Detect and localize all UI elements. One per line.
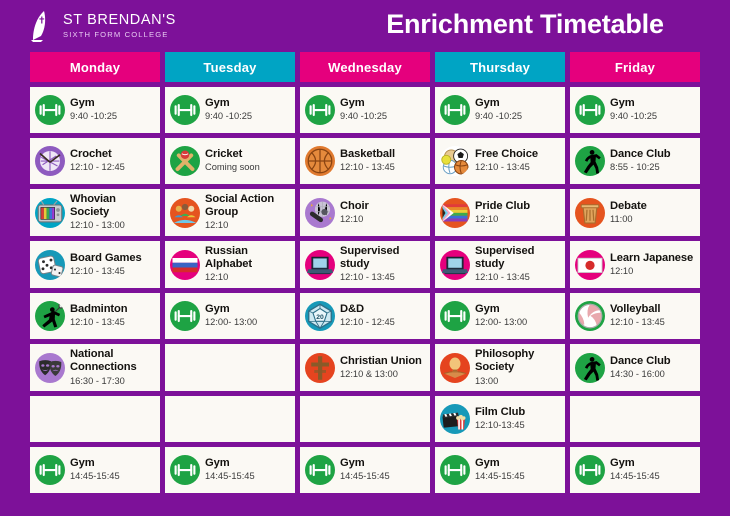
timetable-cell[interactable]: Debate11:00 (570, 189, 700, 236)
activity-text: Whovian Society12:10 - 13:00 (70, 193, 155, 232)
timetable-cell[interactable]: Gym12:00- 13:00 (435, 293, 565, 339)
activity-title: Gym (205, 97, 252, 110)
timetable-cell[interactable]: Supervised study12:10 - 13:45 (435, 241, 565, 288)
timetable-cell[interactable]: Crochet12:10 - 12:45 (30, 138, 160, 184)
day-header-tuesday[interactable]: Tuesday (165, 52, 295, 82)
activity-time: 14:45-15:45 (70, 471, 120, 483)
dumbbell-icon (170, 301, 200, 331)
sail-cross-logo-icon (30, 10, 56, 42)
activity-time: 12:10 (205, 272, 290, 284)
activity-title: Supervised study (340, 245, 425, 271)
dumbbell-icon (170, 95, 200, 125)
group-people-icon (170, 198, 200, 228)
activity-title: Crochet (70, 148, 125, 161)
activity-text: Gym9:40 -10:25 (70, 97, 117, 123)
activity-title: Gym (340, 457, 390, 470)
lightbulb-book-icon (440, 353, 470, 383)
dancer-icon (575, 146, 605, 176)
brand-subtitle: SIXTH FORM COLLEGE (63, 31, 176, 39)
activity-title: Gym (340, 97, 387, 110)
timetable-cell[interactable]: Philosophy Society13:00 (435, 344, 565, 391)
timetable-cell[interactable]: Badminton12:10 - 13:45 (30, 293, 160, 339)
timetable-cell[interactable]: Free Choice12:10 - 13:45 (435, 138, 565, 184)
activity-time: 12:10 (475, 214, 530, 226)
activity-title: Gym (205, 303, 257, 316)
activity-text: Crochet12:10 - 12:45 (70, 148, 125, 174)
timetable-cell[interactable]: Social Action Group12:10 (165, 189, 295, 236)
activity-time: 12:10 & 13:00 (340, 369, 422, 381)
activity-time: 12:10 - 13:45 (475, 272, 560, 284)
timetable-cell[interactable]: Pride Club12:10 (435, 189, 565, 236)
dumbbell-icon (575, 455, 605, 485)
dumbbell-icon (440, 95, 470, 125)
timetable-cell[interactable]: Film Club12:10-13:45 (435, 396, 565, 442)
activity-title: D&D (340, 303, 395, 316)
activity-text: D&D12:10 - 12:45 (340, 303, 395, 329)
page-header: ST BRENDAN'S SIXTH FORM COLLEGE Enrichme… (0, 0, 730, 52)
activity-text: Gym14:45-15:45 (610, 457, 660, 483)
activity-title: Gym (70, 457, 120, 470)
timetable-cell[interactable]: Supervised study12:10 - 13:45 (300, 241, 430, 288)
laptop-icon (440, 250, 470, 280)
day-header-monday[interactable]: Monday (30, 52, 160, 82)
d20-dice-icon: 20 (305, 301, 335, 331)
dice-icon (35, 250, 65, 280)
badminton-player-icon (35, 301, 65, 331)
day-header-wednesday[interactable]: Wednesday (300, 52, 430, 82)
dumbbell-icon (305, 95, 335, 125)
timetable-cell[interactable]: Whovian Society12:10 - 13:00 (30, 189, 160, 236)
activity-title: Dance Club (610, 355, 671, 368)
timetable-cell-empty (300, 396, 430, 442)
cross-icon (305, 353, 335, 383)
dumbbell-icon (440, 455, 470, 485)
activity-text: Volleyball12:10 - 13:45 (610, 303, 665, 329)
cricket-bat-ball-icon (170, 146, 200, 176)
dumbbell-icon (440, 301, 470, 331)
activity-text: CricketComing soon (205, 148, 260, 174)
activity-time: 16:30 - 17:30 (70, 376, 155, 388)
activity-text: Supervised study12:10 - 13:45 (340, 245, 425, 284)
activity-time: 12:10 - 13:45 (70, 317, 128, 329)
timetable-cell[interactable]: Gym9:40 -10:25 (300, 87, 430, 133)
activity-time: 12:10-13:45 (475, 420, 525, 432)
activity-text: Gym9:40 -10:25 (205, 97, 252, 123)
activity-title: Christian Union (340, 355, 422, 368)
timetable-cell[interactable]: Dance Club14:30 - 16:00 (570, 344, 700, 391)
activity-title: Gym (610, 457, 660, 470)
activity-title: National Connections (70, 348, 155, 374)
activity-title: Gym (475, 97, 522, 110)
timetable-cell[interactable]: Gym12:00- 13:00 (165, 293, 295, 339)
activity-title: Dance Club (610, 148, 671, 161)
day-header-label: Monday (70, 60, 120, 75)
timetable-cell[interactable]: Gym14:45-15:45 (30, 447, 160, 493)
activity-text: Learn Japanese12:10 (610, 252, 693, 278)
timetable-cell[interactable]: Dance Club8:55 - 10:25 (570, 138, 700, 184)
activity-text: Gym14:45-15:45 (340, 457, 390, 483)
activity-time: 9:40 -10:25 (475, 111, 522, 123)
timetable-cell[interactable]: Gym14:45-15:45 (165, 447, 295, 493)
activity-title: Russian Alphabet (205, 245, 290, 271)
activity-text: Gym12:00- 13:00 (475, 303, 527, 329)
activity-time: 12:10 (610, 266, 693, 278)
activity-title: Pride Club (475, 200, 530, 213)
day-header-thursday[interactable]: Thursday (435, 52, 565, 82)
timetable-cell[interactable]: Basketball12:10 - 13:45 (300, 138, 430, 184)
yarn-ball-icon (35, 146, 65, 176)
activity-text: Gym9:40 -10:25 (475, 97, 522, 123)
timetable-cell-empty (165, 396, 295, 442)
activity-text: Gym14:45-15:45 (205, 457, 255, 483)
activity-time: 13:00 (475, 376, 560, 388)
activity-title: Film Club (475, 406, 525, 419)
activity-time: 14:45-15:45 (475, 471, 525, 483)
activity-title: Gym (475, 303, 527, 316)
activity-time: 9:40 -10:25 (70, 111, 117, 123)
dumbbell-icon (35, 455, 65, 485)
timetable-cell[interactable]: Gym9:40 -10:25 (435, 87, 565, 133)
activity-title: Supervised study (475, 245, 560, 271)
timetable-cell[interactable]: Gym14:45-15:45 (570, 447, 700, 493)
timetable-cell[interactable]: Board Games12:10 - 13:45 (30, 241, 160, 288)
pride-flag-icon (440, 198, 470, 228)
activity-title: Gym (70, 97, 117, 110)
dumbbell-icon (35, 95, 65, 125)
day-header-label: Wednesday (328, 60, 402, 75)
activity-title: Gym (475, 457, 525, 470)
activity-time: 8:55 - 10:25 (610, 162, 671, 174)
assorted-balls-icon (440, 146, 470, 176)
page-title: Enrichment Timetable (330, 9, 720, 40)
timetable-cell-empty (165, 344, 295, 391)
clapperboard-popcorn-icon (440, 404, 470, 434)
timetable-page: ST BRENDAN'S SIXTH FORM COLLEGE Enrichme… (0, 0, 730, 516)
activity-title: Free Choice (475, 148, 538, 161)
activity-text: Russian Alphabet12:10 (205, 245, 290, 284)
activity-time: Coming soon (205, 162, 260, 174)
timetable-cell[interactable]: Choir12:10 (300, 189, 430, 236)
volleyball-icon (575, 301, 605, 331)
activity-text: Board Games12:10 - 13:45 (70, 252, 142, 278)
activity-title: Learn Japanese (610, 252, 693, 265)
activity-text: Gym12:00- 13:00 (205, 303, 257, 329)
day-header-label: Friday (615, 60, 655, 75)
day-header-label: Tuesday (203, 60, 256, 75)
microphone-icon (305, 198, 335, 228)
activity-title: Badminton (70, 303, 128, 316)
dancer-icon (575, 353, 605, 383)
activity-title: Cricket (205, 148, 260, 161)
activity-text: Social Action Group12:10 (205, 193, 290, 232)
podium-icon (575, 198, 605, 228)
timetable-grid: MondayTuesdayWednesdayThursdayFridayGym9… (30, 52, 700, 493)
theatre-masks-icon (35, 353, 65, 383)
activity-text: Gym9:40 -10:25 (340, 97, 387, 123)
day-header-friday[interactable]: Friday (570, 52, 700, 82)
activity-title: Philosophy Society (475, 348, 560, 374)
timetable-cell[interactable]: Gym9:40 -10:25 (570, 87, 700, 133)
brand-name: ST BRENDAN'S (63, 13, 176, 28)
timetable-cell[interactable]: CricketComing soon (165, 138, 295, 184)
timetable-cell[interactable]: Russian Alphabet12:10 (165, 241, 295, 288)
activity-text: Dance Club14:30 - 16:00 (610, 355, 671, 381)
activity-time: 12:10 (205, 220, 290, 232)
activity-time: 12:00- 13:00 (475, 317, 527, 329)
activity-text: Philosophy Society13:00 (475, 348, 560, 387)
activity-title: Debate (610, 200, 647, 213)
activity-time: 12:10 (340, 214, 369, 226)
activity-text: Choir12:10 (340, 200, 369, 226)
activity-time: 14:30 - 16:00 (610, 369, 671, 381)
activity-title: Gym (610, 97, 657, 110)
dumbbell-icon (305, 455, 335, 485)
activity-text: Free Choice12:10 - 13:45 (475, 148, 538, 174)
activity-time: 14:45-15:45 (610, 471, 660, 483)
activity-text: Film Club12:10-13:45 (475, 406, 525, 432)
timetable-cell[interactable]: Gym14:45-15:45 (300, 447, 430, 493)
activity-time: 12:10 - 12:45 (340, 317, 395, 329)
activity-text: Gym9:40 -10:25 (610, 97, 657, 123)
activity-time: 12:10 - 13:45 (475, 162, 538, 174)
dumbbell-icon (575, 95, 605, 125)
activity-text: Gym14:45-15:45 (475, 457, 525, 483)
activity-time: 9:40 -10:25 (205, 111, 252, 123)
timetable-cell[interactable]: Volleyball12:10 - 13:45 (570, 293, 700, 339)
activity-title: Social Action Group (205, 193, 290, 219)
day-header-label: Thursday (470, 60, 530, 75)
activity-time: 9:40 -10:25 (610, 111, 657, 123)
timetable-cell-empty (570, 396, 700, 442)
activity-text: Dance Club8:55 - 10:25 (610, 148, 671, 174)
activity-time: 12:10 - 13:45 (610, 317, 665, 329)
activity-time: 12:10 - 12:45 (70, 162, 125, 174)
activity-time: 12:10 - 13:45 (340, 272, 425, 284)
timetable-cell[interactable]: 20D&D12:10 - 12:45 (300, 293, 430, 339)
college-branding: ST BRENDAN'S SIXTH FORM COLLEGE (30, 10, 176, 42)
activity-time: 14:45-15:45 (340, 471, 390, 483)
svg-text:20: 20 (316, 314, 324, 321)
dumbbell-icon (170, 455, 200, 485)
timetable-cell[interactable]: Learn Japanese12:10 (570, 241, 700, 288)
timetable-cell[interactable]: Gym14:45-15:45 (435, 447, 565, 493)
japan-flag-icon (575, 250, 605, 280)
activity-text: National Connections16:30 - 17:30 (70, 348, 155, 387)
activity-time: 12:10 - 13:45 (70, 266, 142, 278)
tv-icon (35, 198, 65, 228)
activity-text: Pride Club12:10 (475, 200, 530, 226)
activity-time: 14:45-15:45 (205, 471, 255, 483)
activity-text: Basketball12:10 - 13:45 (340, 148, 395, 174)
basketball-icon (305, 146, 335, 176)
activity-title: Gym (205, 457, 255, 470)
activity-time: 12:10 - 13:45 (340, 162, 395, 174)
laptop-icon (305, 250, 335, 280)
activity-time: 12:10 - 13:00 (70, 220, 155, 232)
activity-time: 12:00- 13:00 (205, 317, 257, 329)
activity-text: Debate11:00 (610, 200, 647, 226)
activity-text: Badminton12:10 - 13:45 (70, 303, 128, 329)
activity-time: 11:00 (610, 214, 647, 226)
activity-text: Christian Union12:10 & 13:00 (340, 355, 422, 381)
timetable-cell[interactable]: Gym9:40 -10:25 (30, 87, 160, 133)
russian-flag-icon (170, 250, 200, 280)
activity-title: Whovian Society (70, 193, 155, 219)
brand-text: ST BRENDAN'S SIXTH FORM COLLEGE (63, 13, 176, 38)
timetable-cell-empty (30, 396, 160, 442)
timetable-cell[interactable]: Gym9:40 -10:25 (165, 87, 295, 133)
activity-title: Volleyball (610, 303, 665, 316)
activity-time: 9:40 -10:25 (340, 111, 387, 123)
activity-text: Supervised study12:10 - 13:45 (475, 245, 560, 284)
activity-title: Basketball (340, 148, 395, 161)
activity-title: Choir (340, 200, 369, 213)
activity-text: Gym14:45-15:45 (70, 457, 120, 483)
timetable-cell[interactable]: Christian Union12:10 & 13:00 (300, 344, 430, 391)
timetable-cell[interactable]: National Connections16:30 - 17:30 (30, 344, 160, 391)
activity-title: Board Games (70, 252, 142, 265)
